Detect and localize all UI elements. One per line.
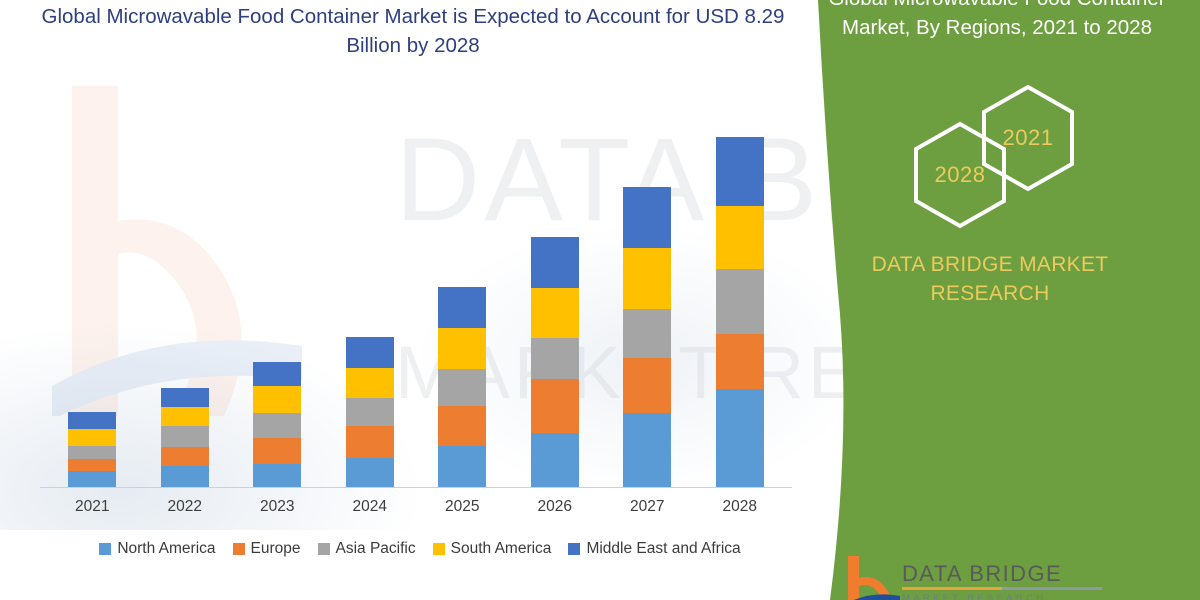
bar-segment[interactable] [531, 288, 579, 338]
legend-swatch [318, 543, 330, 555]
bar-group [47, 110, 137, 487]
hexagon-2021: 2021 [978, 83, 1078, 193]
bar-segment[interactable] [438, 406, 486, 446]
bar-segment[interactable] [253, 464, 301, 487]
data-bridge-logo: DATA BRIDGE MARKET RESEARCH [842, 556, 1172, 600]
bar-segment[interactable] [253, 362, 301, 386]
legend-swatch [568, 543, 580, 555]
legend-item[interactable]: Middle East and Africa [568, 540, 740, 558]
chart-panel: DATA BRIDGE MARKET RESEARCH Global Micro… [0, 0, 845, 600]
bar-segment[interactable] [346, 337, 394, 368]
chart-title: Global Microwavable Food Container Marke… [28, 2, 798, 60]
legend-swatch [433, 543, 445, 555]
bar-segment[interactable] [623, 309, 671, 358]
bar-segment[interactable] [716, 269, 764, 334]
bar-segment[interactable] [68, 412, 116, 429]
stacked-bar[interactable] [531, 237, 579, 487]
stacked-bar[interactable] [68, 412, 116, 487]
x-axis-label-2021: 2021 [47, 498, 137, 516]
legend-label: South America [451, 540, 552, 558]
bar-segment[interactable] [531, 338, 579, 379]
bar-segment[interactable] [531, 433, 579, 487]
bar-group [140, 110, 230, 487]
x-axis-label-2025: 2025 [417, 498, 507, 516]
x-axis-label-2028: 2028 [695, 498, 785, 516]
bar-segment[interactable] [68, 471, 116, 487]
bar-segment[interactable] [623, 413, 671, 487]
hexagon-group: 2028 2021 [900, 95, 1130, 230]
bars-container [46, 110, 786, 487]
bar-group [417, 110, 507, 487]
bar-segment[interactable] [68, 446, 116, 459]
stacked-bar[interactable] [253, 362, 301, 487]
legend-label: North America [117, 540, 215, 558]
stacked-bar[interactable] [161, 388, 209, 487]
stacked-bar[interactable] [438, 287, 486, 487]
logo-subtitle: MARKET RESEARCH [902, 593, 1102, 600]
bar-group [232, 110, 322, 487]
brand-name: DATA BRIDGE MARKET RESEARCH [810, 250, 1170, 308]
bar-group [510, 110, 600, 487]
bar-segment[interactable] [716, 206, 764, 269]
legend-item[interactable]: North America [99, 540, 215, 558]
green-panel-title: Global Microwavable Food Container Marke… [822, 0, 1172, 42]
legend-label: Asia Pacific [336, 540, 416, 558]
x-axis-label-2026: 2026 [510, 498, 600, 516]
x-axis-label-2022: 2022 [140, 498, 230, 516]
x-axis-labels: 20212022202320242025202620272028 [46, 498, 786, 522]
bar-segment[interactable] [161, 407, 209, 426]
legend-item[interactable]: South America [433, 540, 552, 558]
bar-segment[interactable] [161, 447, 209, 466]
stacked-bar[interactable] [623, 187, 671, 487]
legend-label: Europe [251, 540, 301, 558]
x-axis-label-2023: 2023 [232, 498, 322, 516]
hexagon-2021-label: 2021 [1003, 125, 1054, 151]
legend-item[interactable]: Asia Pacific [318, 540, 416, 558]
x-axis-label-2027: 2027 [602, 498, 692, 516]
bar-segment[interactable] [531, 379, 579, 433]
bar-segment[interactable] [438, 446, 486, 487]
logo-title: DATA BRIDGE [902, 562, 1102, 586]
stacked-bar[interactable] [716, 137, 764, 487]
bar-segment[interactable] [68, 459, 116, 471]
bar-segment[interactable] [161, 388, 209, 407]
bar-segment[interactable] [623, 187, 671, 248]
bar-segment[interactable] [716, 334, 764, 389]
bar-segment[interactable] [531, 237, 579, 288]
logo-rule [902, 587, 1102, 590]
bar-segment[interactable] [253, 386, 301, 413]
bar-segment[interactable] [346, 458, 394, 487]
bar-segment[interactable] [346, 368, 394, 398]
stacked-bar[interactable] [346, 337, 394, 487]
legend-item[interactable]: Europe [233, 540, 301, 558]
bar-segment[interactable] [438, 287, 486, 328]
bar-segment[interactable] [716, 389, 764, 487]
logo-mark-icon [842, 556, 900, 600]
bar-segment[interactable] [253, 413, 301, 438]
bar-segment[interactable] [346, 426, 394, 458]
x-axis-line [40, 487, 792, 488]
x-axis-label-2024: 2024 [325, 498, 415, 516]
bar-segment[interactable] [438, 369, 486, 406]
bar-segment[interactable] [623, 248, 671, 309]
chart-legend: North AmericaEuropeAsia PacificSouth Ame… [40, 540, 800, 558]
legend-swatch [99, 543, 111, 555]
green-side-panel: Global Microwavable Food Container Marke… [780, 0, 1200, 600]
bar-segment[interactable] [253, 438, 301, 464]
bar-group [325, 110, 415, 487]
bar-segment[interactable] [438, 328, 486, 369]
bar-segment[interactable] [161, 466, 209, 487]
bar-segment[interactable] [623, 358, 671, 413]
legend-label: Middle East and Africa [586, 540, 740, 558]
bar-segment[interactable] [346, 398, 394, 426]
bar-segment[interactable] [68, 429, 116, 446]
bar-group [695, 110, 785, 487]
legend-swatch [233, 543, 245, 555]
bar-segment[interactable] [161, 426, 209, 447]
bar-segment[interactable] [716, 137, 764, 206]
bar-group [602, 110, 692, 487]
